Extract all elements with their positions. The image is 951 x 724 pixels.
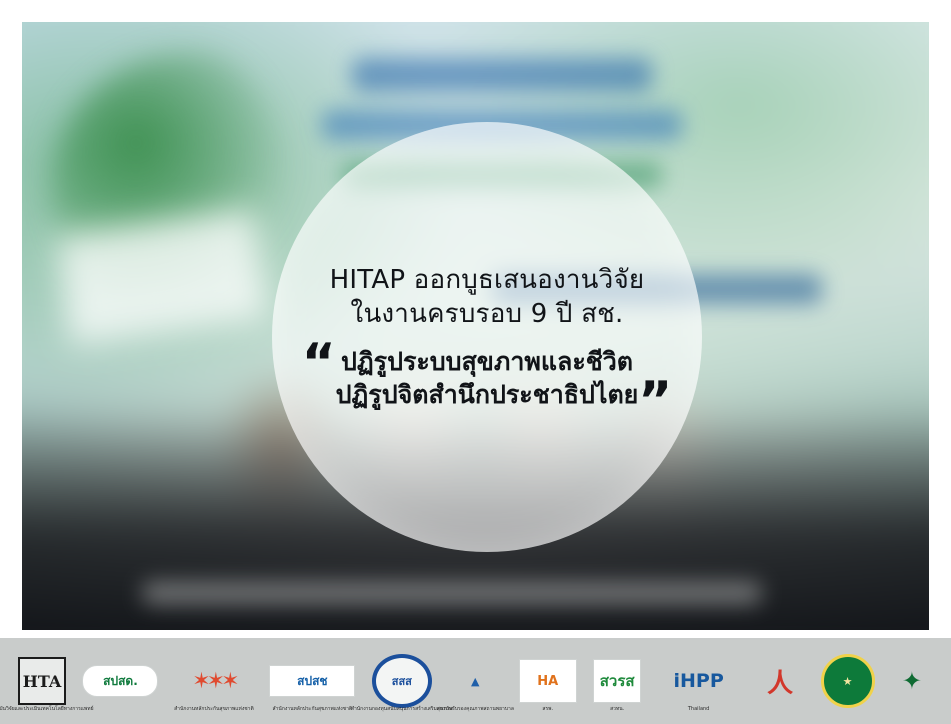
thaihealth-logo: สสส สำนักงานกองทุนสนับสนุนการสร้างเสริมส… [372, 652, 432, 710]
triangle-logo: ▲ สถาบันรับรองคุณภาพสถานพยาบาล [448, 652, 502, 710]
quote-line-4: ปฏิรูปจิตสำนึกประชาธิปไตย [336, 378, 639, 411]
garuda-logo: ✦ [891, 652, 933, 710]
sapa-mark-icon: สปสด. [82, 665, 158, 697]
garuda-mark-icon: ✦ [891, 656, 933, 706]
hsri-caption: สวทน. [610, 707, 624, 713]
open-quote-icon: “ [302, 337, 336, 389]
quote-emphasis-block: “ ปฏิรูประบบสุขภาพและชีวิต ปฏิรูปจิตสำนึ… [336, 345, 639, 411]
ha-caption: สรพ. [542, 707, 553, 713]
seal-green-logo: ★ [821, 652, 875, 710]
blurred-foreground-banner [142, 582, 762, 604]
nhso-caption: สำนักงานหลักประกันสุขภาพแห่งชาติ [273, 707, 353, 713]
person-red-logo: 人 [756, 652, 804, 710]
quote-line-1: HITAP ออกบูธเสนองานวิจัย [330, 263, 645, 297]
seal-green-mark-icon: ★ [821, 654, 875, 708]
hsri-mark-icon: สวรส [593, 659, 641, 703]
star-people-logo: ✶✶✶ สำนักงานหลักประกันสุขภาพแห่งชาติ [175, 652, 253, 710]
quote-line-3: ปฏิรูประบบสุขภาพและชีวิต [336, 345, 639, 378]
star-people-mark-icon: ✶✶✶ [175, 659, 253, 703]
person-red-mark-icon: 人 [756, 658, 804, 704]
close-quote-icon: ” [638, 375, 672, 427]
ihpp-logo: iHPP Thailand [658, 652, 740, 710]
hitap-logo: HTA สถาบันวิจัยและประเมินเทคโนโลยีทางการ… [18, 652, 66, 710]
ihpp-caption: Thailand [688, 707, 709, 713]
hitap-caption: สถาบันวิจัยและประเมินเทคโนโลยีทางการแพทย… [0, 707, 94, 713]
ha-mark-icon: HA [519, 659, 577, 703]
sapa-logo: สปสด. [82, 652, 158, 710]
background-photo: HITAP ออกบูธเสนองานวิจัย ในงานครบรอบ 9 ป… [22, 22, 929, 630]
quote-line-2: ในงานครบรอบ 9 ปี สช. [351, 297, 624, 331]
promo-banner: HITAP ออกบูธเสนองานวิจัย ในงานครบรอบ 9 ป… [0, 0, 951, 724]
blurred-backdrop-headline [352, 58, 652, 92]
ihpp-mark-icon: iHPP [658, 664, 740, 698]
quote-circle: HITAP ออกบูธเสนองานวิจัย ในงานครบรอบ 9 ป… [272, 122, 702, 552]
sponsor-logo-strip: HTA สถาบันวิจัยและประเมินเทคโนโลยีทางการ… [0, 638, 951, 724]
ha-logo: HA สรพ. [519, 652, 577, 710]
triangle-caption: สถาบันรับรองคุณภาพสถานพยาบาล [437, 707, 514, 713]
thaihealth-mark-icon: สสส [372, 654, 432, 708]
triangle-mark-icon: ▲ [448, 658, 502, 704]
hitap-mark-icon: HTA [18, 657, 66, 705]
nhso-logo: สปสช สำนักงานหลักประกันสุขภาพแห่งชาติ [269, 652, 355, 710]
hsri-logo: สวรส สวทน. [593, 652, 641, 710]
star-people-caption: สำนักงานหลักประกันสุขภาพแห่งชาติ [174, 707, 254, 713]
nhso-mark-icon: สปสช [269, 665, 355, 697]
